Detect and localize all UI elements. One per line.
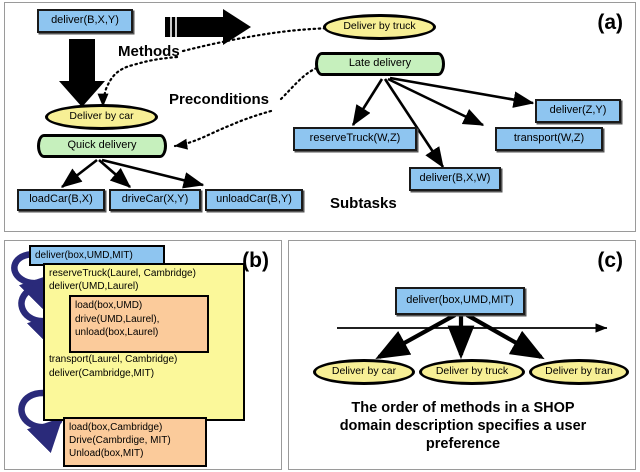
root-to-car-arrow [59, 39, 105, 107]
pb-action-unload-laurel: unload(box,Laurel) [75, 326, 203, 339]
node-subtask-drivecar[interactable]: driveCar(X,Y) [109, 189, 201, 211]
caption-line-2: domain description specifies a user [295, 417, 631, 435]
node-c-method-truck[interactable]: Deliver by truck [419, 359, 525, 385]
panel-a-label: (a) [597, 11, 623, 35]
pb-inner-actions-second: load(box,Cambridge) Drive(Cambrdige, MIT… [63, 417, 207, 467]
node-subtask-unloadcar[interactable]: unloadCar(B,Y) [205, 189, 303, 211]
node-method-deliver-by-car[interactable]: Deliver by car [45, 104, 158, 130]
figure-root: deliver(B,X,Y) Methods Preconditions Sub… [0, 0, 640, 472]
node-c-task[interactable]: deliver(box,UMD,MIT) [395, 287, 525, 315]
label-subtasks: Subtasks [330, 195, 397, 212]
node-subtask-deliver-bxw[interactable]: deliver(B,X,W) [409, 167, 501, 191]
node-c-method-train[interactable]: Deliver by tran [529, 359, 629, 385]
pb-line-reservetruck: reserveTruck(Laurel, Cambridge) [49, 267, 239, 280]
dotted-methods-to-truck [183, 28, 343, 51]
node-subtask-loadcar[interactable]: loadCar(B,X) [17, 189, 105, 211]
panel-b-label: (b) [242, 249, 269, 273]
quick-to-subtask-edges [62, 160, 203, 187]
node-subtask-deliver-zy[interactable]: deliver(Z,Y) [535, 99, 621, 123]
caption-line-1: The order of methods in a SHOP [295, 399, 631, 417]
label-methods: Methods [118, 43, 180, 60]
pb-line-deliver-cambridge-mit: deliver(Cambridge,MIT) [49, 367, 239, 380]
task-to-method-edges [379, 315, 541, 357]
pb-inner-actions-first: load(box,UMD) drive(UMD,Laurel), unload(… [69, 295, 209, 353]
panel-c-label: (c) [597, 249, 623, 273]
pb-decomposition-block: reserveTruck(Laurel, Cambridge) deliver(… [43, 263, 245, 421]
dotted-methods-to-car [103, 57, 177, 106]
panel-c-caption: The order of methods in a SHOP domain de… [295, 399, 631, 453]
pb-action-load-cambridge: load(box,Cambridge) [69, 421, 201, 434]
node-c-method-car[interactable]: Deliver by car [313, 359, 415, 385]
pb-line-transport: transport(Laurel, Cambridge) [49, 353, 239, 366]
panel-b: deliver(box,UMD,MIT) reserveTruck(Laurel… [4, 240, 282, 470]
caption-line-3: preference [295, 435, 631, 453]
pb-action-unload-mit: Unload(box,MIT) [69, 447, 201, 460]
label-preconditions: Preconditions [169, 91, 269, 108]
pb-action-drive-cambridge-mit: Drive(Cambrdige, MIT) [69, 434, 201, 447]
node-method-deliver-by-truck[interactable]: Deliver by truck [323, 14, 436, 40]
node-precond-quick-delivery[interactable]: Quick delivery [37, 134, 167, 158]
pb-top-task-text: deliver(box,UMD,MIT) [35, 249, 133, 262]
pb-line-deliver-umd-laurel: deliver(UMD,Laurel) [49, 280, 239, 293]
panel-c: deliver(box,UMD,MIT) Deliver by car Deli… [288, 240, 636, 470]
pb-action-drive-umd-laurel: drive(UMD,Laurel), [75, 313, 203, 326]
late-to-subtask-edges [353, 78, 533, 167]
node-root-task[interactable]: deliver(B,X,Y) [37, 9, 133, 33]
pb-action-load-umd: load(box,UMD) [75, 299, 203, 312]
panel-a: deliver(B,X,Y) Methods Preconditions Sub… [4, 2, 636, 232]
node-precond-late-delivery[interactable]: Late delivery [315, 52, 445, 76]
methods-block-arrow [165, 9, 251, 45]
node-subtask-reservetruck[interactable]: reserveTruck(W,Z) [293, 127, 417, 151]
node-subtask-transport[interactable]: transport(W,Z) [495, 127, 603, 151]
dotted-precond-to-quick [175, 111, 271, 146]
